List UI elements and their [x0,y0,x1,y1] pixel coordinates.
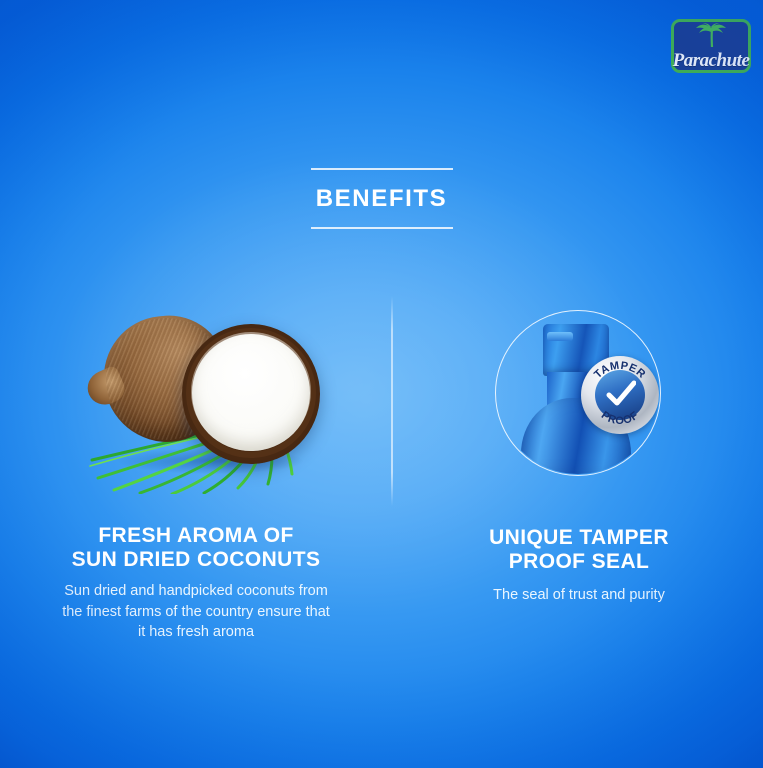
coconut-photo [16,290,376,505]
seal-circle-outline [495,310,661,476]
benefits-header: BENEFITS [0,168,763,229]
benefits-rule-bottom [311,227,453,229]
benefits-title: BENEFITS [0,170,763,227]
benefit-heading-line-2: SUN DRIED COCONUTS [16,548,376,572]
halved-coconut [182,324,320,464]
benefit-body: The seal of trust and purity [400,585,758,606]
promo-canvas: Parachute BENEFITS [0,0,763,768]
benefit-body: Sun dried and handpicked coconuts from t… [16,581,376,643]
benefit-card-tamper-proof: TAMPER PROOF UNIQUE TAMPER PROOF SEAL Th… [400,290,758,606]
parachute-logo[interactable]: Parachute [671,19,751,73]
benefit-body-line-1: The seal of trust and purity [400,585,758,606]
palm-tree-icon [694,22,728,52]
benefit-body-line-3: it has fresh aroma [16,622,376,643]
column-divider [391,296,393,506]
benefit-body-line-2: the finest farms of the country ensure t… [16,602,376,623]
benefit-heading-line-1: UNIQUE TAMPER [400,526,758,550]
benefit-heading: FRESH AROMA OF SUN DRIED COCONUTS [16,524,376,571]
benefit-heading-line-2: PROOF SEAL [400,550,758,574]
benefit-heading-line-1: FRESH AROMA OF [16,524,376,548]
benefit-card-fresh-aroma: FRESH AROMA OF SUN DRIED COCONUTS Sun dr… [16,290,376,643]
logo-wordmark: Parachute [671,51,751,70]
benefit-heading: UNIQUE TAMPER PROOF SEAL [400,526,758,573]
tamper-proof-bottle-photo: TAMPER PROOF [400,290,758,505]
benefit-body-line-1: Sun dried and handpicked coconuts from [16,581,376,602]
